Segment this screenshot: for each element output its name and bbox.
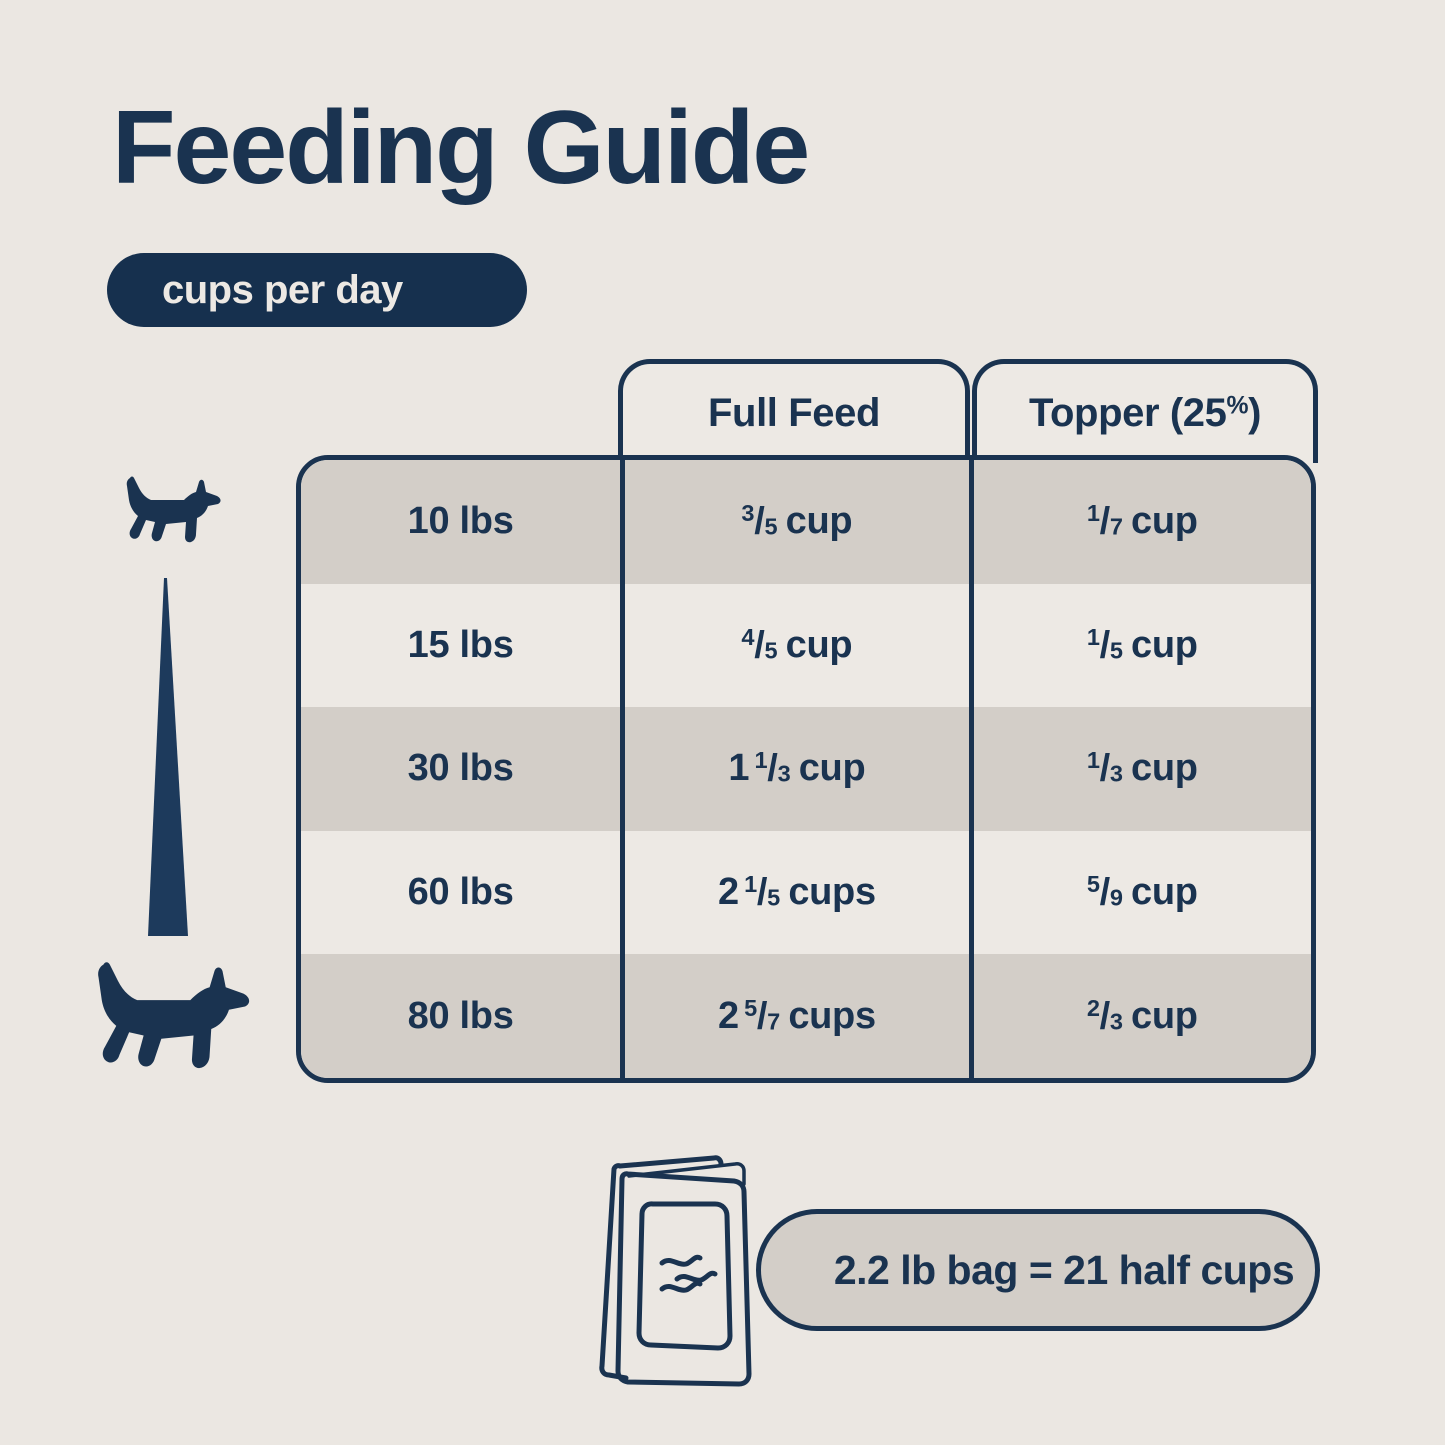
cell-topper: 1/3cup: [969, 707, 1311, 831]
cell-weight: 30 lbs: [301, 707, 620, 831]
table-row: 15 lbs 4/5cup 1/5cup: [301, 584, 1311, 708]
cell-full-feed: 11/3cup: [620, 707, 968, 831]
cell-topper: 5/9cup: [969, 831, 1311, 955]
cell-topper: 1/5cup: [969, 584, 1311, 708]
column-header-topper: Topper (25%): [972, 359, 1318, 463]
cell-weight: 80 lbs: [301, 954, 620, 1078]
cell-full-feed: 4/5cup: [620, 584, 968, 708]
dog-silhouette-small-icon: [118, 472, 226, 559]
cell-full-feed: 3/5cup: [620, 460, 968, 584]
cell-full-feed: 21/5cups: [620, 831, 968, 955]
cell-topper: 1/7cup: [969, 460, 1311, 584]
column-header-topper-label: Topper (25%): [1029, 391, 1261, 436]
table-row: 10 lbs 3/5cup 1/7cup: [301, 460, 1311, 584]
subtitle-pill-badge: cups per day: [107, 253, 527, 327]
food-bag-icon: [596, 1152, 782, 1393]
column-header-full-feed: Full Feed: [618, 359, 970, 463]
table-row: 80 lbs 25/7cups 2/3cup: [301, 954, 1311, 1078]
table-body: 10 lbs 3/5cup 1/7cup 15 lbs 4/5cup 1/5cu…: [296, 455, 1316, 1083]
dog-silhouette-large-icon: [78, 955, 264, 1092]
bag-note-label: 2.2 lb bag = 21 half cups: [834, 1247, 1294, 1294]
column-header-full-feed-label: Full Feed: [708, 391, 880, 436]
cell-topper: 2/3cup: [969, 954, 1311, 1078]
feeding-guide-table: 10 lbs 3/5cup 1/7cup 15 lbs 4/5cup 1/5cu…: [296, 455, 1316, 1083]
page-title: Feeding Guide: [112, 96, 808, 200]
cell-weight: 60 lbs: [301, 831, 620, 955]
size-scale-wedge-icon: [142, 578, 194, 945]
table-row: 60 lbs 21/5cups 5/9cup: [301, 831, 1311, 955]
cell-full-feed: 25/7cups: [620, 954, 968, 1078]
table-row: 30 lbs 11/3cup 1/3cup: [301, 707, 1311, 831]
subtitle-pill-label: cups per day: [162, 268, 403, 313]
cell-weight: 15 lbs: [301, 584, 620, 708]
cell-weight: 10 lbs: [301, 460, 620, 584]
bag-callout: 2.2 lb bag = 21 half cups: [596, 1152, 1320, 1388]
bag-note-pill: 2.2 lb bag = 21 half cups: [756, 1209, 1320, 1331]
